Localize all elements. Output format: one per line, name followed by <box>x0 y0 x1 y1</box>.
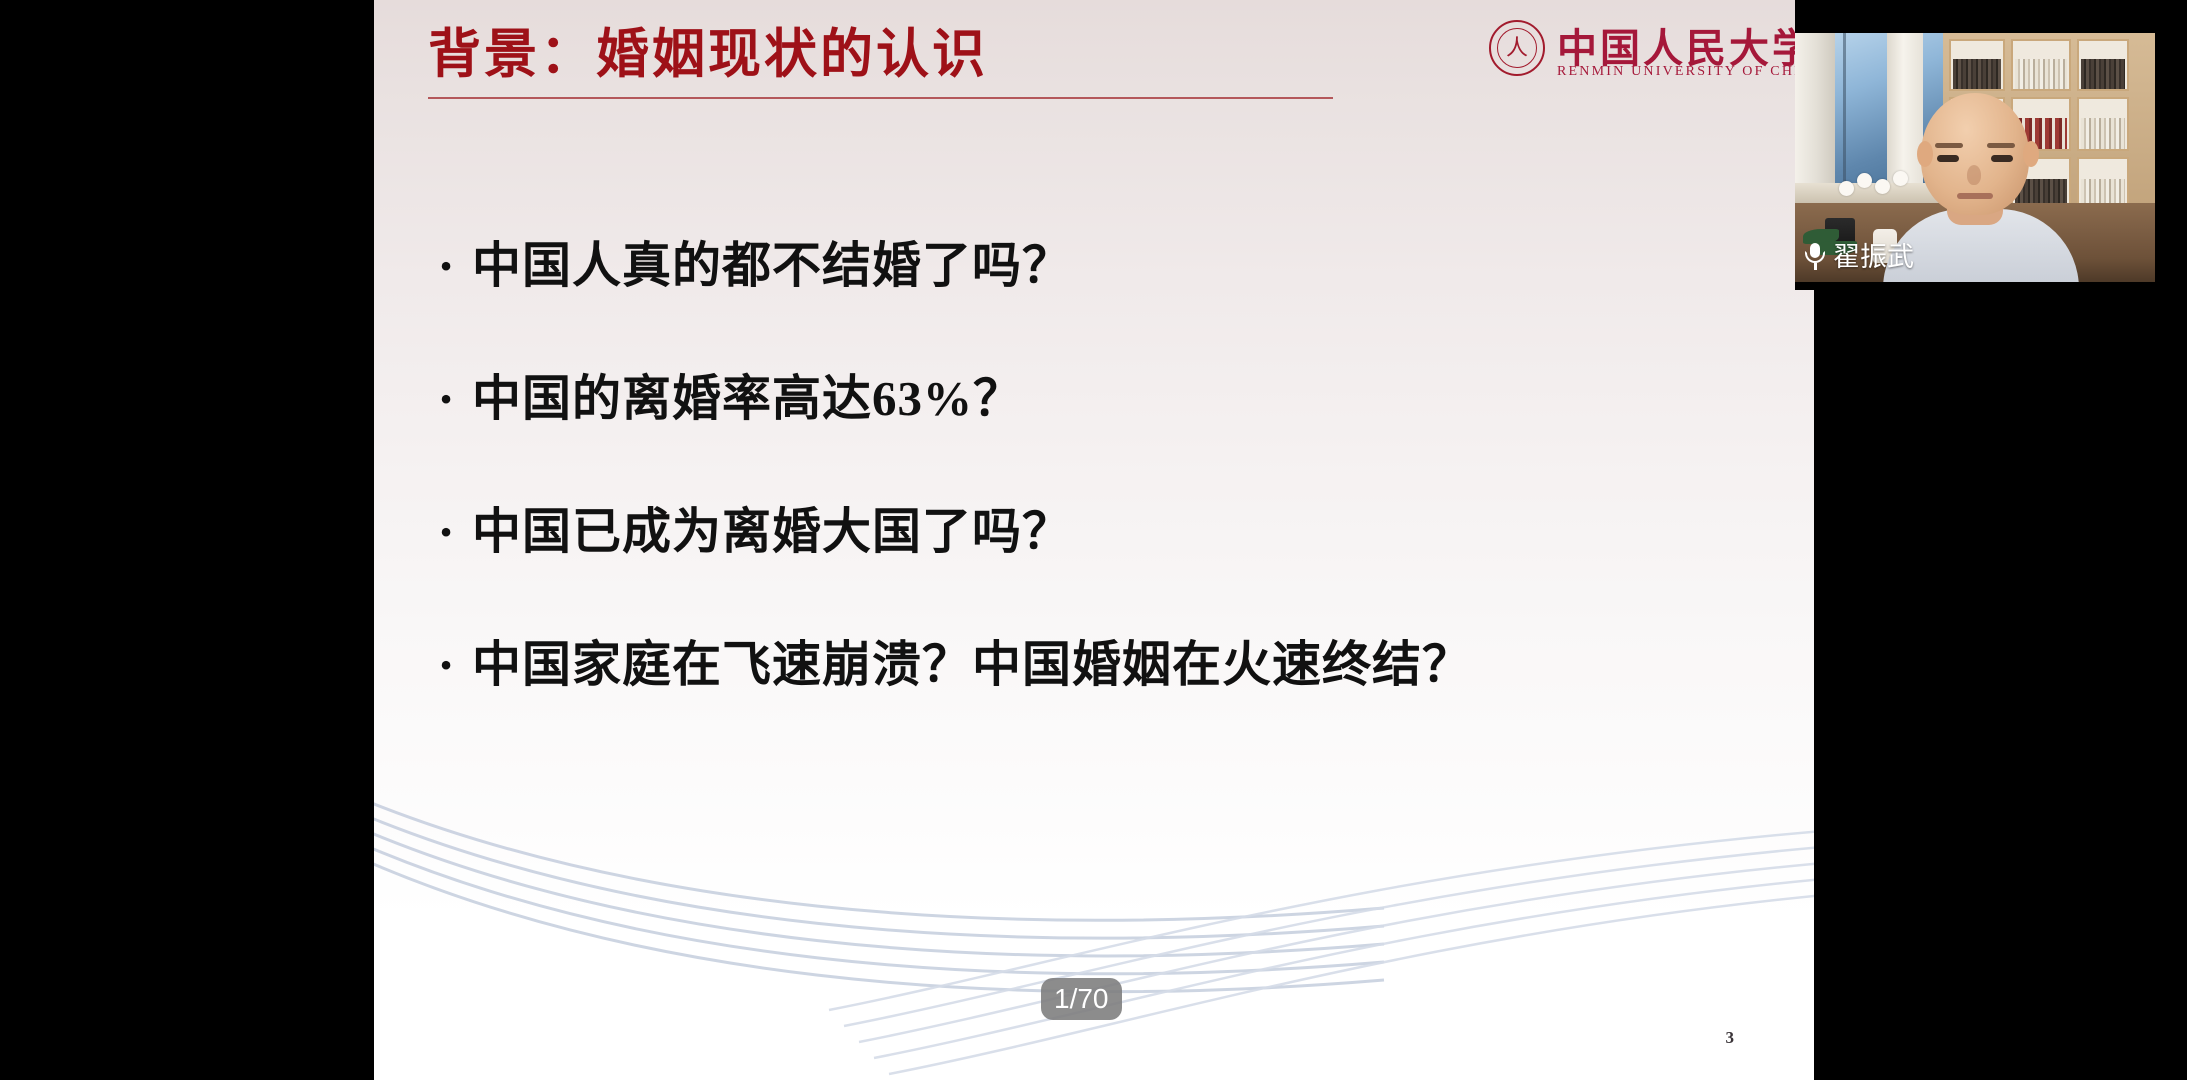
title-block: 背景：婚姻现状的认识 <box>428 26 1388 99</box>
seal-mark-glyph: 人 <box>1506 37 1528 59</box>
video-frame: 翟振武 <box>1795 33 2155 282</box>
speaker-label-overlay: 翟振武 <box>1803 242 1914 272</box>
list-item: • 中国已成为离婚大国了吗？ <box>420 498 1780 631</box>
list-item: • 中国家庭在飞速崩溃？中国婚姻在火速终结？ <box>420 631 1780 764</box>
bullet-text: 中国人真的都不结婚了吗？ <box>472 232 1072 300</box>
bullet-text: 中国已成为离婚大国了吗？ <box>472 498 1072 566</box>
microphone-icon[interactable] <box>1803 242 1827 272</box>
speaker-nose <box>1967 165 1981 185</box>
speaker-video-tile[interactable]: 翟振武 <box>1795 0 2187 290</box>
university-logo: 人 中国人民大学 RENMIN UNIVERSITY OF CHINA <box>1489 16 1779 86</box>
page-indicator-badge[interactable]: 1/70 <box>1041 978 1122 1020</box>
speaker-eyebrow <box>1935 143 1963 148</box>
speaker-eye <box>1937 155 1959 162</box>
speaker-ear <box>1917 141 1933 167</box>
bullet-text: 中国的离婚率高达63%？ <box>472 365 1023 433</box>
university-seal-icon: 人 <box>1489 20 1545 76</box>
slide-number: 3 <box>1726 1028 1735 1048</box>
speaker-name: 翟振武 <box>1833 242 1914 272</box>
list-item: • 中国的离婚率高达63%？ <box>420 365 1780 498</box>
orchid-bloom <box>1839 181 1854 196</box>
presentation-viewer: 背景：婚姻现状的认识 人 中国人民大学 RENMIN UNIVERSITY OF… <box>0 0 2187 1080</box>
bullet-marker-icon: • <box>420 365 472 433</box>
bullet-marker-icon: • <box>420 498 472 566</box>
speaker-eyebrow <box>1987 143 2015 148</box>
window-mullion <box>1843 33 1846 198</box>
list-item: • 中国人真的都不结婚了吗？ <box>420 232 1780 365</box>
orchid-bloom <box>1857 173 1872 188</box>
curtain-left <box>1795 33 1835 208</box>
title-underline-rule <box>428 97 1333 99</box>
speaker-eye <box>1991 155 2013 162</box>
orchid-bloom <box>1893 171 1908 186</box>
university-name-english: RENMIN UNIVERSITY OF CHINA <box>1557 64 1814 80</box>
speaker-mouth <box>1957 193 1993 199</box>
speaker-ear <box>2023 141 2039 167</box>
bullet-list: • 中国人真的都不结婚了吗？ • 中国的离婚率高达63%？ • 中国已成为离婚大… <box>420 232 1780 764</box>
orchid-bloom <box>1875 179 1890 194</box>
page-title: 背景：婚姻现状的认识 <box>428 26 1388 85</box>
bullet-text: 中国家庭在飞速崩溃？中国婚姻在火速终结？ <box>472 631 1472 699</box>
bullet-marker-icon: • <box>420 631 472 699</box>
slide-canvas[interactable]: 背景：婚姻现状的认识 人 中国人民大学 RENMIN UNIVERSITY OF… <box>374 0 1814 1080</box>
bullet-marker-icon: • <box>420 232 472 300</box>
